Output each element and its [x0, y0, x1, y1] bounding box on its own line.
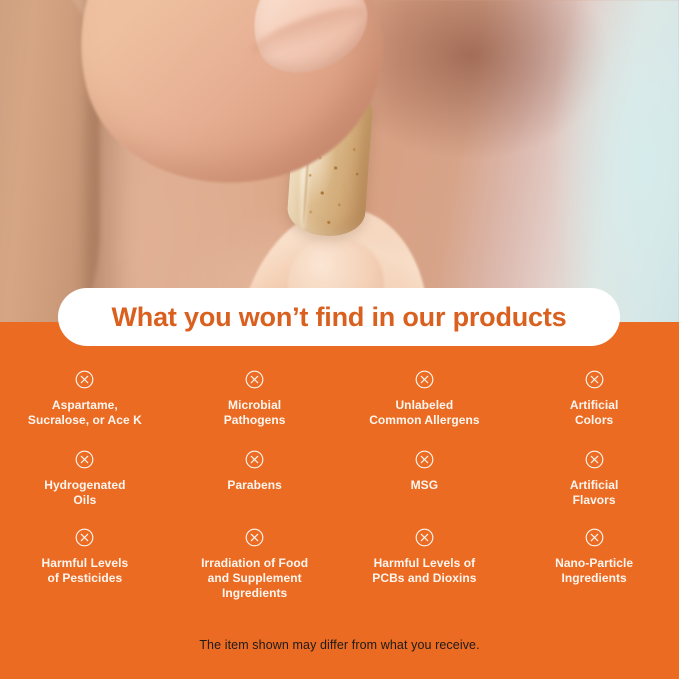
exclusion-item: Hydrogenated Oils: [0, 450, 170, 528]
circle-x-icon: [585, 528, 604, 547]
circle-x-icon: [75, 370, 94, 389]
product-infographic: Aspartame, Sucralose, or Ace K Microbial…: [0, 0, 679, 679]
circle-x-icon: [415, 450, 434, 469]
headline-emphasis: won’t: [239, 302, 308, 332]
exclusions-grid-row-1: Aspartame, Sucralose, or Ace K Microbial…: [0, 370, 679, 450]
circle-x-icon: [585, 370, 604, 389]
exclusion-label: Microbial Pathogens: [224, 398, 286, 428]
exclusion-item: Microbial Pathogens: [170, 370, 340, 450]
headline-part-2: find in our products: [308, 302, 566, 332]
circle-x-icon: [245, 370, 264, 389]
exclusion-item: Aspartame, Sucralose, or Ace K: [0, 370, 170, 450]
exclusion-label: Irradiation of Food and Supplement Ingre…: [201, 556, 308, 601]
exclusion-item: MSG: [340, 450, 510, 528]
page-title: What you won’t find in our products: [112, 302, 567, 333]
exclusion-item: Harmful Levels of PCBs and Dioxins: [340, 528, 510, 601]
exclusion-label: Unlabeled Common Allergens: [369, 398, 479, 428]
exclusion-label: Harmful Levels of Pesticides: [42, 556, 129, 586]
circle-x-icon: [75, 450, 94, 469]
exclusion-item: Irradiation of Food and Supplement Ingre…: [170, 528, 340, 601]
exclusion-label: Aspartame, Sucralose, or Ace K: [28, 398, 142, 428]
exclusion-label: Artificial Colors: [570, 398, 619, 428]
circle-x-icon: [75, 528, 94, 547]
circle-x-icon: [415, 528, 434, 547]
exclusion-item: Parabens: [170, 450, 340, 528]
exclusions-grid-row-3: Harmful Levels of Pesticides Irradiation…: [0, 528, 679, 601]
circle-x-icon: [245, 450, 264, 469]
exclusion-label: MSG: [411, 478, 438, 493]
exclusion-item: Unlabeled Common Allergens: [340, 370, 510, 450]
exclusion-label: Hydrogenated Oils: [44, 478, 125, 508]
product-photo: [0, 0, 679, 323]
exclusion-label: Nano-Particle Ingredients: [555, 556, 633, 586]
headline-part-1: What you: [112, 302, 239, 332]
exclusions-panel: Aspartame, Sucralose, or Ace K Microbial…: [0, 322, 679, 679]
exclusion-item: Nano-Particle Ingredients: [509, 528, 679, 601]
headline-banner: What you won’t find in our products: [58, 288, 620, 346]
exclusion-label: Harmful Levels of PCBs and Dioxins: [372, 556, 476, 586]
exclusion-item: Harmful Levels of Pesticides: [0, 528, 170, 601]
exclusion-label: Parabens: [227, 478, 281, 493]
exclusions-grid-row-2: Hydrogenated Oils Parabens MSG Artificia…: [0, 450, 679, 528]
circle-x-icon: [585, 450, 604, 469]
exclusion-item: Artificial Colors: [509, 370, 679, 450]
disclaimer-text: The item shown may differ from what you …: [0, 638, 679, 652]
exclusion-label: Artificial Flavors: [570, 478, 619, 508]
circle-x-icon: [415, 370, 434, 389]
exclusion-item: Artificial Flavors: [509, 450, 679, 528]
circle-x-icon: [245, 528, 264, 547]
